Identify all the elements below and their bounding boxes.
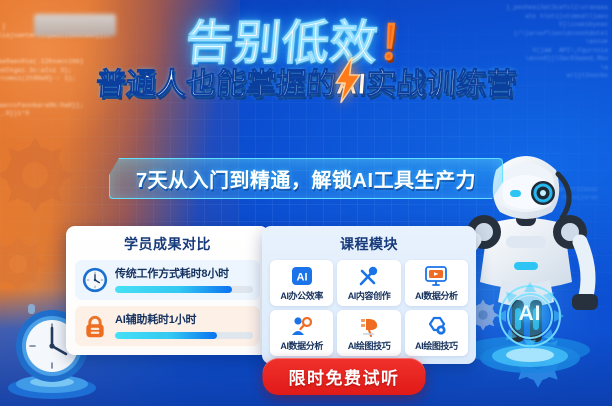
module-label: AI数据分析 — [271, 339, 332, 352]
result-row-traditional: 传统工作方式耗时8小时 — [75, 260, 260, 300]
headline-exclamation: ！ — [376, 16, 429, 69]
modules-card-title: 课程模块 — [270, 234, 468, 254]
module-tile-drawing-1[interactable]: AI绘图技巧 — [337, 310, 400, 356]
tagline-pill: 7天从入门到精通，解锁AI工具生产力 — [109, 158, 503, 199]
result-row-ai: AI辅助耗时1小时 — [75, 306, 260, 346]
results-card-title: 学员成果对比 — [75, 234, 260, 254]
module-tile-drawing-2[interactable]: AI绘图技巧 — [405, 310, 468, 356]
hologram-label: AI — [519, 302, 542, 326]
module-tile-content-creation[interactable]: AI内容创作 — [337, 260, 400, 306]
headline-sub: 普通人也能掌握的AI实战训练营 — [95, 66, 518, 104]
hexagon-gear-icon — [406, 315, 467, 337]
module-label: AI内容创作 — [338, 289, 399, 302]
module-tile-data-analysis-1[interactable]: AI数据分析 — [405, 260, 468, 306]
clock-icon — [82, 267, 108, 293]
headline-block: 告别低效！ 普通人也能掌握的AI实战训练营 — [0, 18, 612, 104]
module-tile-data-analysis-2[interactable]: AI数据分析 — [270, 310, 333, 356]
module-label: AI绘图技巧 — [338, 339, 399, 352]
gear-icon — [0, 232, 50, 296]
lock-icon — [82, 313, 108, 339]
result-row-body: 传统工作方式耗时8小时 — [115, 265, 253, 293]
module-tile-ai-office[interactable]: AI AI办公效率 — [270, 260, 333, 306]
results-comparison-card: 学员成果对比 传统工作方式耗时8小时 — [66, 226, 269, 355]
microphone-pen-icon — [338, 265, 399, 287]
hand-brush-icon — [338, 315, 399, 337]
modules-grid: AI AI办公效率 AI内容创作 — [270, 260, 468, 356]
person-search-icon — [271, 315, 332, 337]
module-label: AI办公效率 — [271, 289, 332, 302]
module-label: AI绘图技巧 — [406, 339, 467, 352]
module-label: AI数据分析 — [406, 289, 467, 302]
free-trial-cta-button[interactable]: 限时免费试听 — [263, 358, 426, 395]
result-row-body: AI辅助耗时1小时 — [115, 311, 253, 339]
cta-label: 限时免费试听 — [289, 364, 400, 389]
ai-badge-icon: AI — [271, 265, 332, 287]
result-row-label: AI辅助耗时1小时 — [115, 311, 253, 327]
progress-bar-track — [115, 332, 253, 339]
gear-icon — [0, 132, 78, 218]
ai-hologram-icon: AI — [476, 272, 584, 376]
tagline-text: 7天从入门到精通，解锁AI工具生产力 — [136, 164, 476, 193]
progress-bar-fill — [115, 332, 217, 339]
headline-main: 告别低效！ — [184, 18, 428, 68]
lightning-bolt-icon — [331, 57, 364, 103]
headline-sub-text: 普通人也能掌握的AI实战训练营 — [95, 68, 517, 101]
progress-bar-track — [115, 286, 253, 293]
progress-bar-fill — [115, 286, 232, 293]
result-row-label: 传统工作方式耗时8小时 — [115, 265, 253, 281]
course-modules-card: 课程模块 AI AI办公效率 — [262, 226, 476, 364]
poster-canvas: { ] aliajsaetmrttcpwiii36003A9}}); {aa0a… — [0, 0, 612, 406]
svg-text:AI: AI — [296, 272, 307, 284]
monitor-play-icon — [406, 265, 467, 287]
